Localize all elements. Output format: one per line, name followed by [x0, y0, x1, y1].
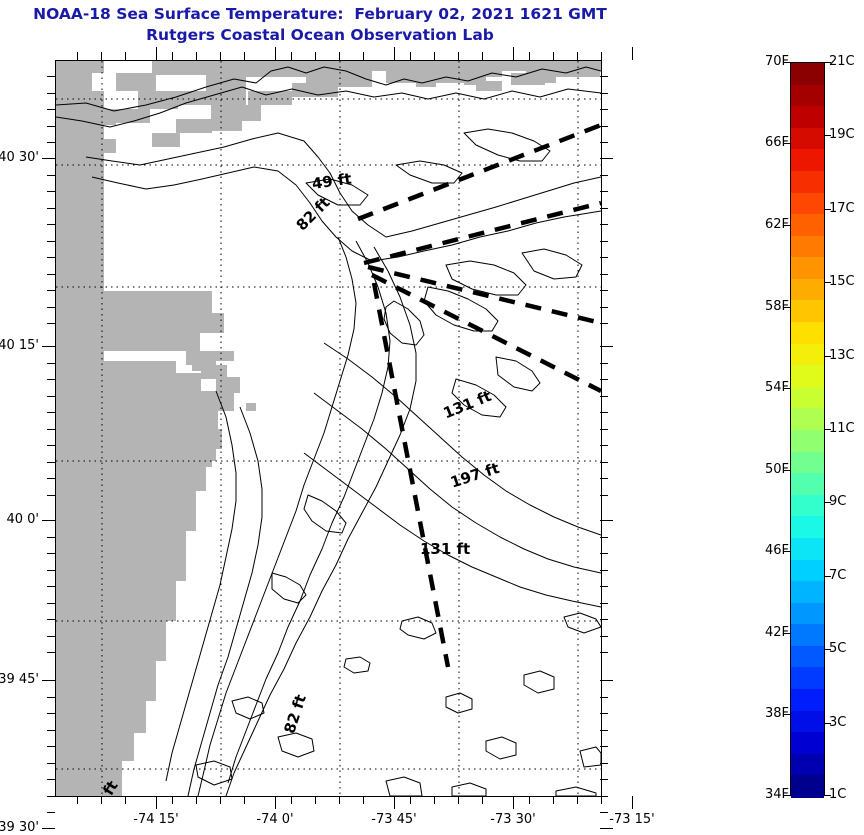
- y-minor-tick: [47, 796, 55, 797]
- y-right-minor-tick: [600, 697, 608, 698]
- y-minor-tick: [47, 76, 55, 77]
- x-minor-tick: [101, 796, 102, 804]
- x-top-minor-tick: [339, 52, 340, 60]
- x-top-minor-tick: [458, 52, 459, 60]
- y-right-minor-tick: [600, 224, 608, 225]
- y-right-minor-tick: [600, 553, 608, 554]
- y-minor-tick: [47, 396, 55, 397]
- x-top-minor-tick: [244, 52, 245, 60]
- y-minor-tick: [47, 779, 55, 780]
- colorbar-c-label: 19C: [829, 127, 855, 142]
- y-minor-tick: [47, 363, 55, 364]
- y-minor-tick: [47, 586, 55, 587]
- colorbar-band: [791, 711, 824, 733]
- x-top-minor-tick: [434, 52, 435, 60]
- y-right-major-tick: [600, 520, 613, 521]
- x-minor-tick: [77, 796, 78, 804]
- y-minor-tick: [47, 537, 55, 538]
- y-right-minor-tick: [600, 412, 608, 413]
- x-top-minor-tick: [196, 52, 197, 60]
- colorbar-f-label: 58F: [753, 299, 789, 314]
- colorbar-c-label: 1C: [829, 787, 846, 802]
- colorbar-band: [791, 603, 824, 625]
- y-minor-tick: [47, 652, 55, 653]
- y-minor-tick: [47, 619, 55, 620]
- x-top-minor-tick: [125, 52, 126, 60]
- x-top-minor-tick: [172, 52, 173, 60]
- colorbar-band: [791, 473, 824, 495]
- x-major-tick: [394, 796, 395, 809]
- y-right-minor-tick: [600, 462, 608, 463]
- colorbar-band: [791, 171, 824, 193]
- title-line-1: NOAA-18 Sea Surface Temperature: Februar…: [0, 4, 640, 25]
- x-top-minor-tick: [101, 52, 102, 60]
- temperature-colorbar: 70F 66F 62F 58F 54F 50F 46F 42F 38F 34F …: [790, 62, 825, 796]
- y-right-minor-tick: [600, 126, 608, 127]
- y-right-minor-tick: [600, 445, 608, 446]
- colorbar-band: [791, 85, 824, 107]
- y-minor-tick: [47, 713, 55, 714]
- y-right-minor-tick: [600, 537, 608, 538]
- x-minor-tick: [434, 796, 435, 804]
- x-minor-tick: [220, 796, 221, 804]
- y-minor-tick: [47, 570, 55, 571]
- x-minor-tick: [529, 796, 530, 804]
- x-minor-tick: [601, 796, 602, 804]
- x-major-tick: [513, 796, 514, 809]
- y-right-minor-tick: [600, 603, 608, 604]
- colorbar-band: [791, 279, 824, 301]
- colorbar-c-label: 21C: [829, 54, 855, 69]
- colorbar-band: [791, 63, 824, 85]
- y-major-tick: [42, 346, 55, 347]
- x-minor-tick: [125, 796, 126, 804]
- colorbar-band: [791, 560, 824, 582]
- x-minor-tick: [363, 796, 364, 804]
- y-right-minor-tick: [600, 93, 608, 94]
- colorbar-f-label: 62F: [753, 217, 789, 232]
- y-right-minor-tick: [600, 763, 608, 764]
- colorbar-band: [791, 387, 824, 409]
- page-title: NOAA-18 Sea Surface Temperature: Februar…: [0, 4, 640, 46]
- lat-tick-label: 39 45': [0, 672, 39, 687]
- y-minor-tick: [47, 812, 55, 813]
- x-top-minor-tick: [529, 52, 530, 60]
- x-top-minor-tick: [601, 52, 602, 60]
- colorbar-c-label: 11C: [829, 421, 855, 436]
- x-minor-tick: [458, 796, 459, 804]
- colorbar-band: [791, 236, 824, 258]
- y-right-minor-tick: [600, 636, 608, 637]
- x-top-minor-tick: [77, 52, 78, 60]
- x-minor-tick: [577, 796, 578, 804]
- y-minor-tick: [47, 257, 55, 258]
- colorbar-band: [791, 430, 824, 452]
- colorbar-band: [791, 581, 824, 603]
- y-minor-tick: [47, 412, 55, 413]
- x-minor-tick: [172, 796, 173, 804]
- x-minor-tick: [244, 796, 245, 804]
- y-right-minor-tick: [600, 290, 608, 291]
- colorbar-band: [791, 516, 824, 538]
- colorbar-c-label: 9C: [829, 494, 846, 509]
- map-axes: 40 30' 40 15' 40 0' 39 45' 39 30' -74 15…: [55, 60, 600, 795]
- colorbar-c-label: 13C: [829, 348, 855, 363]
- y-right-major-tick: [600, 680, 613, 681]
- colorbar-f-label: 38F: [753, 706, 789, 721]
- y-minor-tick: [47, 241, 55, 242]
- y-right-minor-tick: [600, 307, 608, 308]
- y-minor-tick: [47, 379, 55, 380]
- lon-tick-label: -73 15': [592, 812, 672, 827]
- y-minor-tick: [47, 224, 55, 225]
- colorbar-band: [791, 452, 824, 474]
- y-right-minor-tick: [600, 586, 608, 587]
- colorbar-f-label: 46F: [753, 543, 789, 558]
- x-minor-tick: [553, 796, 554, 804]
- lon-tick-label: -73 30': [473, 812, 553, 827]
- y-right-minor-tick: [600, 363, 608, 364]
- x-top-major-tick: [632, 47, 633, 60]
- colorbar-band: [791, 646, 824, 668]
- title-line-2: Rutgers Coastal Ocean Observation Lab: [0, 25, 640, 46]
- x-major-tick: [156, 796, 157, 809]
- y-minor-tick: [47, 478, 55, 479]
- colorbar-f-label: 50F: [753, 462, 789, 477]
- y-major-tick: [42, 680, 55, 681]
- y-right-minor-tick: [600, 730, 608, 731]
- lat-tick-label: 40 0': [0, 512, 39, 527]
- colorbar-c-label: 5C: [829, 641, 846, 656]
- y-right-minor-tick: [600, 396, 608, 397]
- colorbar-band: [791, 775, 824, 797]
- y-minor-tick: [47, 730, 55, 731]
- x-minor-tick: [315, 796, 316, 804]
- x-top-major-tick: [513, 47, 514, 60]
- x-top-minor-tick: [291, 52, 292, 60]
- y-minor-tick: [47, 290, 55, 291]
- y-right-major-tick: [600, 828, 613, 829]
- colorbar-band: [791, 257, 824, 279]
- colorbar-band: [791, 495, 824, 517]
- y-right-minor-tick: [600, 652, 608, 653]
- colorbar-f-label: 54F: [753, 380, 789, 395]
- x-minor-tick: [482, 796, 483, 804]
- y-minor-tick: [47, 763, 55, 764]
- y-right-minor-tick: [600, 76, 608, 77]
- x-minor-tick: [291, 796, 292, 804]
- y-minor-tick: [47, 603, 55, 604]
- y-minor-tick: [47, 109, 55, 110]
- x-minor-tick: [410, 796, 411, 804]
- y-right-minor-tick: [600, 257, 608, 258]
- x-top-minor-tick: [220, 52, 221, 60]
- lat-tick-label: 39 30': [0, 820, 39, 835]
- colorbar-band: [791, 667, 824, 689]
- colorbar-band: [791, 128, 824, 150]
- x-minor-tick: [196, 796, 197, 804]
- x-top-major-tick: [275, 47, 276, 60]
- y-right-minor-tick: [600, 495, 608, 496]
- y-right-major-tick: [600, 346, 613, 347]
- colorbar-band: [791, 193, 824, 215]
- y-minor-tick: [47, 323, 55, 324]
- y-right-minor-tick: [600, 379, 608, 380]
- lon-tick-label: -74 0': [235, 812, 315, 827]
- y-right-minor-tick: [600, 274, 608, 275]
- y-right-minor-tick: [600, 429, 608, 430]
- y-right-minor-tick: [600, 478, 608, 479]
- y-minor-tick: [47, 636, 55, 637]
- colorbar-c-label: 17C: [829, 201, 855, 216]
- x-major-tick: [632, 796, 633, 809]
- colorbar-band: [791, 149, 824, 171]
- y-minor-tick: [47, 93, 55, 94]
- colorbar-band: [791, 214, 824, 236]
- y-minor-tick: [47, 126, 55, 127]
- x-top-minor-tick: [553, 52, 554, 60]
- y-major-tick: [42, 520, 55, 521]
- y-right-minor-tick: [600, 323, 608, 324]
- x-top-minor-tick: [482, 52, 483, 60]
- y-minor-tick: [47, 697, 55, 698]
- y-minor-tick: [47, 191, 55, 192]
- colorbar-c-label: 3C: [829, 715, 846, 730]
- y-right-minor-tick: [600, 142, 608, 143]
- colorbar-band: [791, 322, 824, 344]
- y-minor-tick: [47, 445, 55, 446]
- colorbar-band: [791, 300, 824, 322]
- y-minor-tick: [47, 142, 55, 143]
- y-right-minor-tick: [600, 779, 608, 780]
- colorbar-band: [791, 624, 824, 646]
- x-top-minor-tick: [410, 52, 411, 60]
- y-right-minor-tick: [600, 109, 608, 110]
- y-right-minor-tick: [600, 208, 608, 209]
- y-minor-tick: [47, 175, 55, 176]
- x-major-tick: [275, 796, 276, 809]
- x-top-major-tick: [156, 47, 157, 60]
- y-major-tick: [42, 828, 55, 829]
- x-top-minor-tick: [363, 52, 364, 60]
- colorbar-band: [791, 538, 824, 560]
- colorbar-f-label: 70F: [753, 54, 789, 69]
- y-minor-tick: [47, 495, 55, 496]
- x-top-minor-tick: [577, 52, 578, 60]
- y-minor-tick: [47, 429, 55, 430]
- colorbar-gradient: [790, 62, 825, 796]
- colorbar-band: [791, 689, 824, 711]
- colorbar-band: [791, 754, 824, 776]
- lon-tick-label: -73 45': [354, 812, 434, 827]
- y-right-minor-tick: [600, 175, 608, 176]
- colorbar-c-label: 7C: [829, 568, 846, 583]
- colorbar-f-label: 42F: [753, 625, 789, 640]
- colorbar-band: [791, 408, 824, 430]
- colorbar-band: [791, 344, 824, 366]
- colorbar-band: [791, 732, 824, 754]
- y-minor-tick: [47, 746, 55, 747]
- y-minor-tick: [47, 307, 55, 308]
- y-right-minor-tick: [600, 241, 608, 242]
- y-right-major-tick: [600, 158, 613, 159]
- y-minor-tick: [47, 462, 55, 463]
- colorbar-band: [791, 365, 824, 387]
- lon-tick-label: -74 15': [116, 812, 196, 827]
- y-right-minor-tick: [600, 746, 608, 747]
- y-minor-tick: [47, 553, 55, 554]
- y-right-minor-tick: [600, 191, 608, 192]
- lat-tick-label: 40 30': [0, 150, 39, 165]
- colorbar-f-label: 66F: [753, 135, 789, 150]
- lat-tick-label: 40 15': [0, 338, 39, 353]
- x-top-major-tick: [394, 47, 395, 60]
- y-right-minor-tick: [600, 570, 608, 571]
- y-minor-tick: [47, 274, 55, 275]
- colorbar-f-label: 34F: [753, 787, 789, 802]
- x-minor-tick: [339, 796, 340, 804]
- x-top-minor-tick: [315, 52, 316, 60]
- y-right-minor-tick: [600, 713, 608, 714]
- colorbar-band: [791, 106, 824, 128]
- y-right-minor-tick: [600, 619, 608, 620]
- colorbar-c-label: 15C: [829, 274, 855, 289]
- y-major-tick: [42, 158, 55, 159]
- y-minor-tick: [47, 208, 55, 209]
